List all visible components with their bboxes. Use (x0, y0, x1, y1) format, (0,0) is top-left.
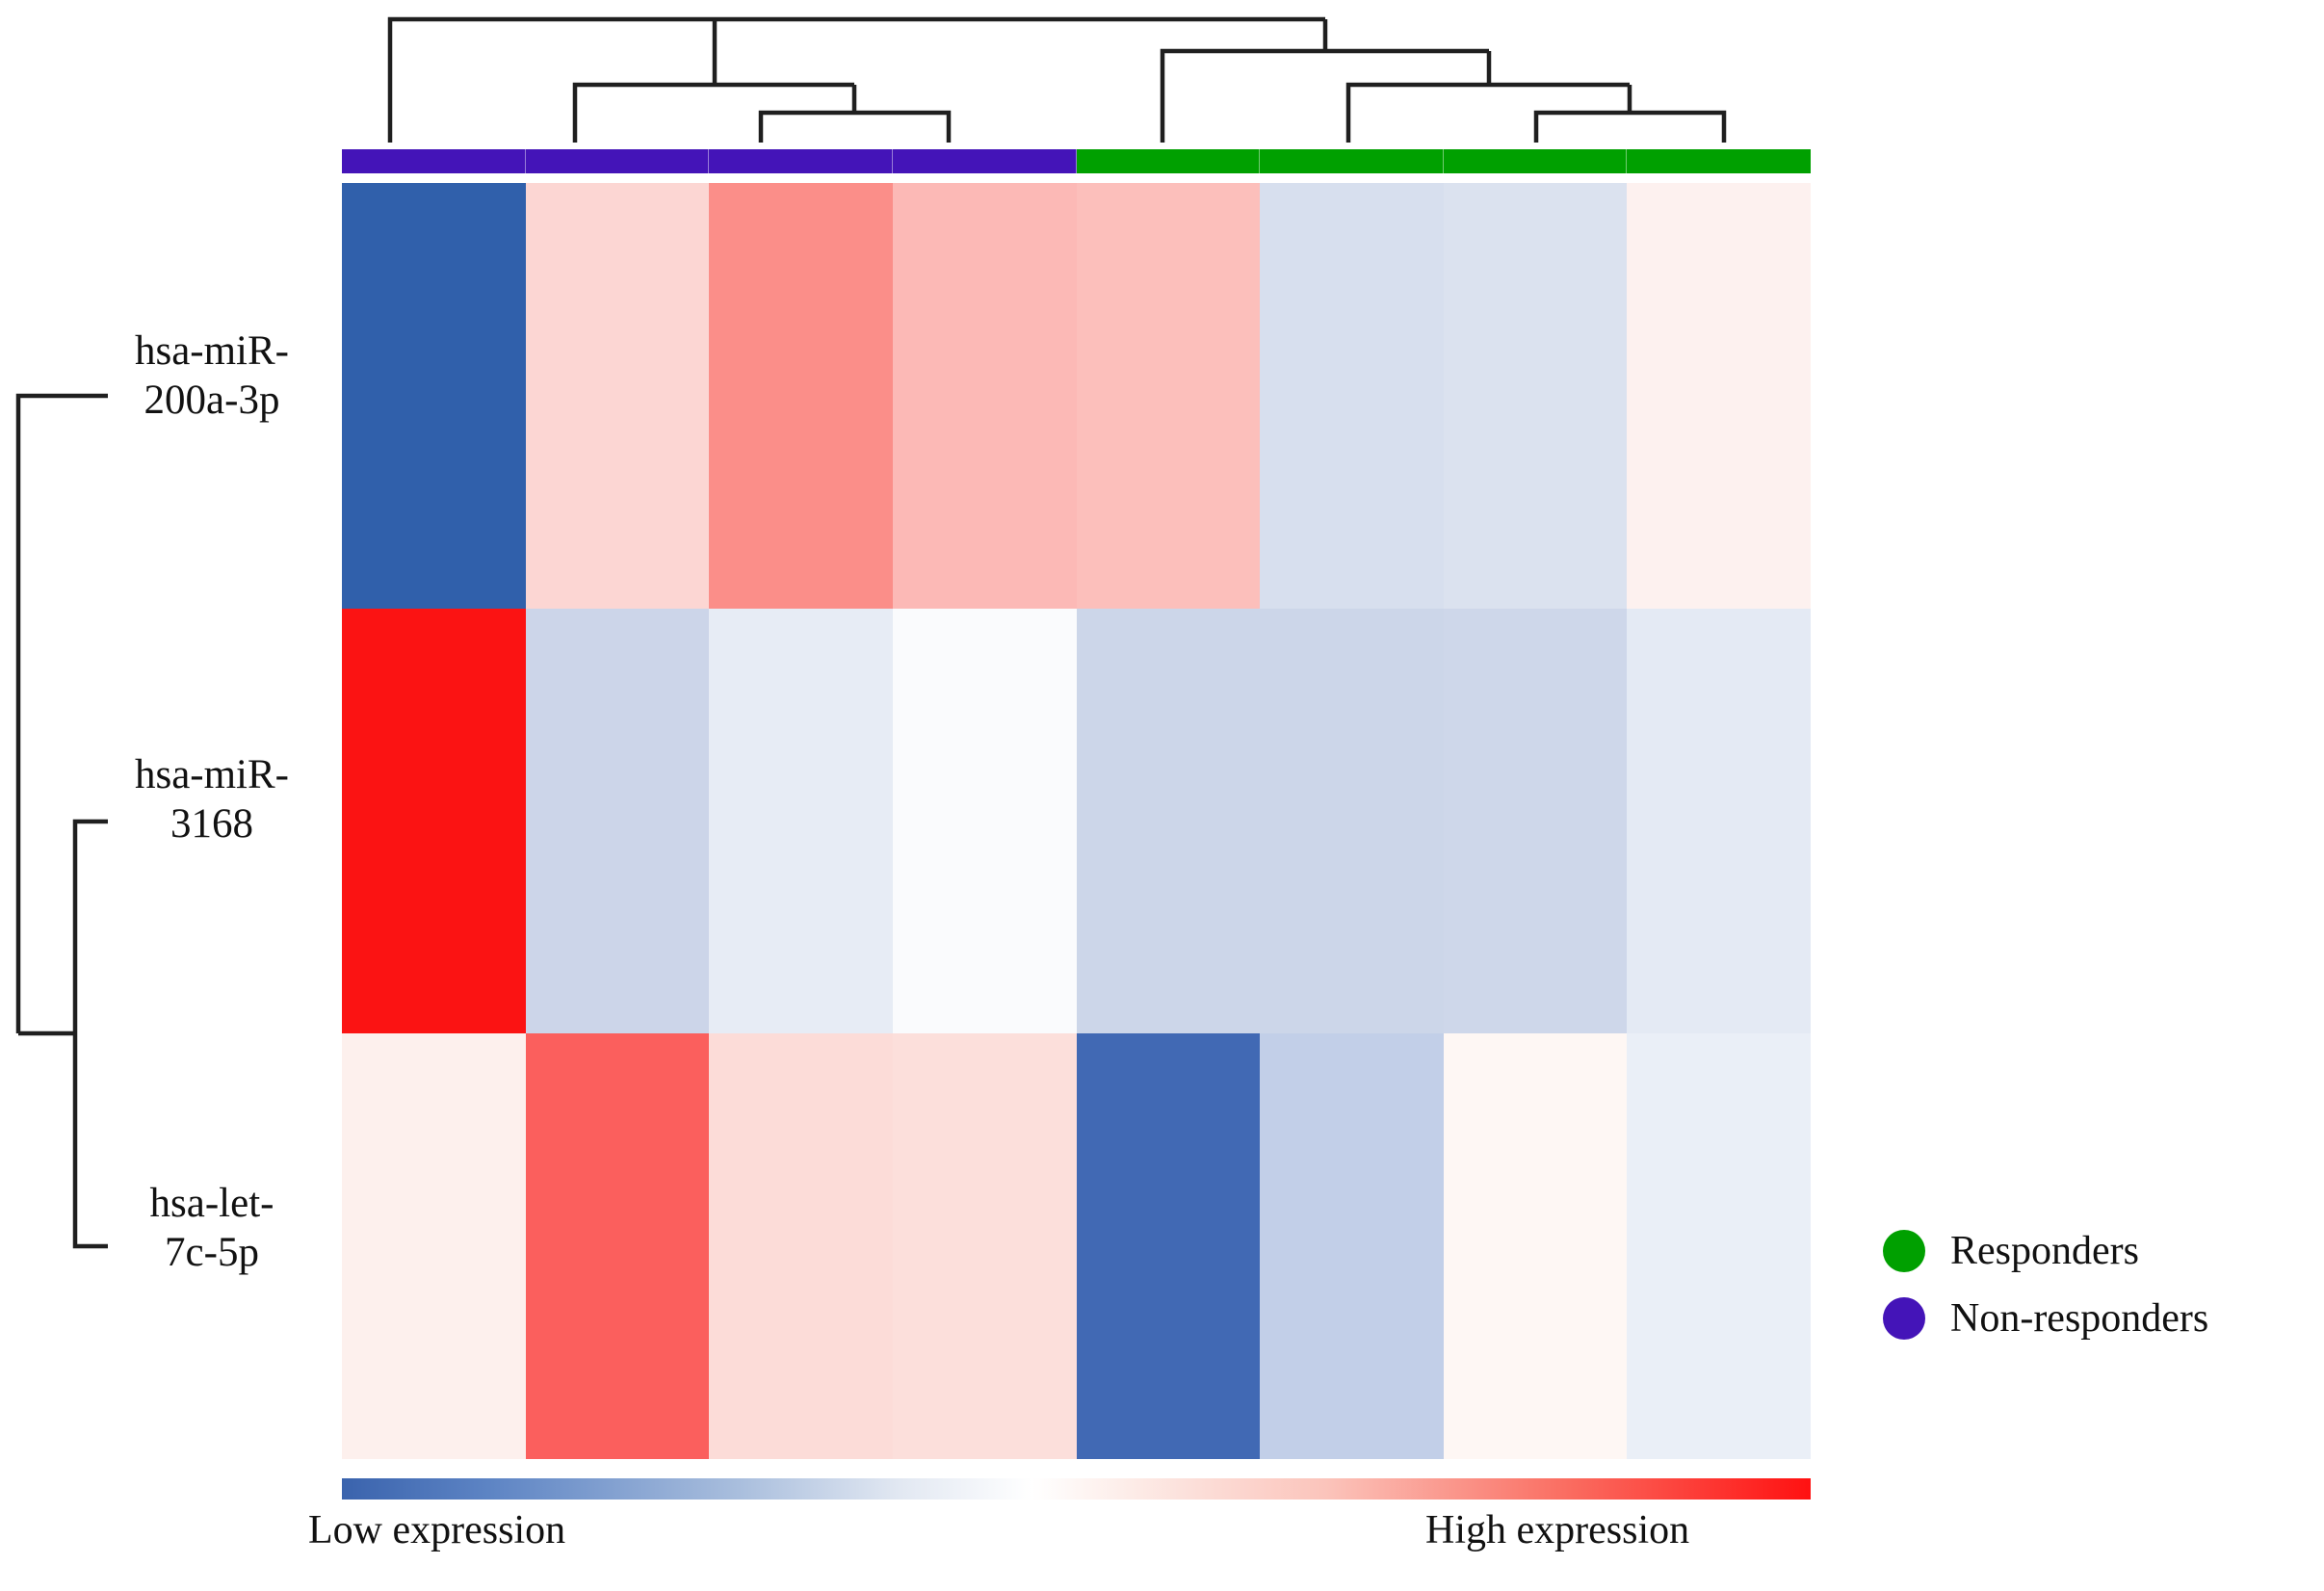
expression-colorbar (342, 1478, 1811, 1500)
non-responders-dot-icon (1883, 1297, 1925, 1340)
heatmap-cell (709, 183, 893, 609)
heatmap-cell (709, 609, 893, 1034)
heatmap-cell (1077, 183, 1261, 609)
heatmap-cell (709, 1033, 893, 1459)
annotation-cell (1260, 149, 1444, 173)
row-label-hsa-mir-3168: hsa-miR- 3168 (91, 751, 332, 848)
heatmap-grid (342, 183, 1811, 1459)
sample-group-annotation-bar (342, 149, 1811, 173)
heatmap-cell (526, 183, 710, 609)
legend-label-responders: Responders (1950, 1228, 2139, 1274)
row-label-hsa-let-7c-5p: hsa-let- 7c-5p (91, 1180, 332, 1277)
heatmap-cell (1260, 609, 1444, 1034)
heatmap-cell (1077, 609, 1261, 1034)
heatmap-cell (1260, 1033, 1444, 1459)
annotation-cell (1444, 149, 1628, 173)
annotation-cell (1077, 149, 1261, 173)
heatmap-cell (1444, 183, 1628, 609)
heatmap-cell (1627, 609, 1811, 1034)
colorbar-low-label: Low expression (308, 1507, 565, 1553)
heatmap-cell (1260, 183, 1444, 609)
heatmap-cell (1444, 1033, 1628, 1459)
colorbar-high-label: High expression (1425, 1507, 1689, 1553)
column-dendrogram-main (0, 0, 2324, 154)
legend-label-non-responders: Non-responders (1950, 1295, 2208, 1342)
heatmap-cell (893, 1033, 1077, 1459)
row-label-group: hsa-miR- 200a-3p hsa-miR- 3168 hsa-let- … (91, 183, 332, 1459)
heatmap-cell (342, 609, 526, 1034)
annotation-cell (893, 149, 1077, 173)
heatmap-cell (1627, 1033, 1811, 1459)
heatmap-cell (1077, 1033, 1261, 1459)
heatmap-cell (526, 609, 710, 1034)
heatmap-cell (342, 183, 526, 609)
heatmap-figure: hsa-miR- 200a-3p hsa-miR- 3168 hsa-let- … (0, 0, 2324, 1591)
legend-item-responders: Responders (1883, 1228, 2208, 1274)
heatmap-cell (893, 183, 1077, 609)
annotation-cell (342, 149, 526, 173)
legend-item-non-responders: Non-responders (1883, 1295, 2208, 1342)
heatmap-cell (342, 1033, 526, 1459)
annotation-cell (1627, 149, 1811, 173)
row-label-hsa-mir-200a-3p: hsa-miR- 200a-3p (91, 327, 332, 425)
heatmap-cell (893, 609, 1077, 1034)
heatmap-cell (526, 1033, 710, 1459)
heatmap-cell (1627, 183, 1811, 609)
group-legend: Responders Non-responders (1883, 1228, 2208, 1363)
annotation-cell (526, 149, 710, 173)
responders-dot-icon (1883, 1230, 1925, 1272)
annotation-cell (709, 149, 893, 173)
heatmap-cell (1444, 609, 1628, 1034)
